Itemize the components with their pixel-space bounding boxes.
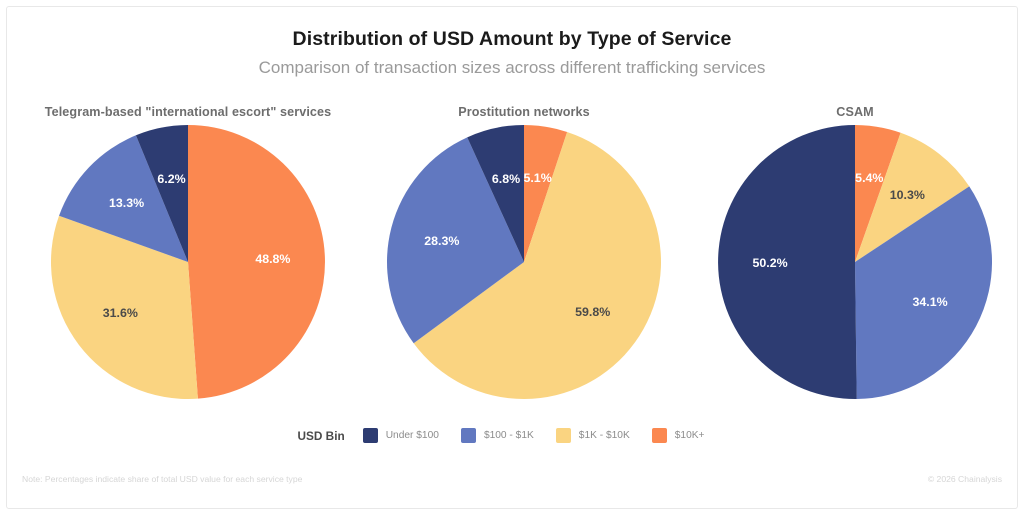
page-subtitle: Comparison of transaction sizes across d… [0,58,1024,78]
legend-swatch-icon [363,428,378,443]
pie-svg [387,125,661,399]
footer-credit: © 2026 Chainalysis [928,474,1002,484]
pie-svg [51,125,325,399]
legend-swatch-icon [652,428,667,443]
legend-title: USD Bin [297,429,344,443]
pie-slice[interactable] [718,125,857,399]
pie-panel-prostitution: Prostitution networks 5.1%59.8%28.3%6.8% [359,105,689,399]
legend-swatch-icon [556,428,571,443]
pie-panel-title: Telegram-based "international escort" se… [23,105,353,119]
legend-item-label: $100 - $1K [484,430,534,441]
legend: USD Bin Under $100$100 - $1K$1K - $10K$1… [0,428,1024,443]
legend-entries: Under $100$100 - $1K$1K - $10K$10K+ [363,428,727,443]
pie-panel-title: CSAM [690,105,1020,119]
pie-chart-prostitution: 5.1%59.8%28.3%6.8% [387,125,661,399]
pie-panel-csam: CSAM 5.4%10.3%34.1%50.2% [690,105,1020,399]
pie-svg [718,125,992,399]
pie-chart-telegram: 48.8%31.6%13.3%6.2% [51,125,325,399]
pie-chart-csam: 5.4%10.3%34.1%50.2% [718,125,992,399]
pie-slice[interactable] [188,125,325,399]
pie-slices [387,125,661,399]
pie-slices [51,125,325,399]
legend-item-label: $10K+ [675,430,705,441]
chart-figure: Distribution of USD Amount by Type of Se… [0,0,1024,515]
legend-item[interactable]: $1K - $10K [556,428,630,443]
legend-item[interactable]: $100 - $1K [461,428,534,443]
pie-slices [718,125,992,399]
page-title: Distribution of USD Amount by Type of Se… [0,28,1024,51]
legend-item-label: $1K - $10K [579,430,630,441]
pie-panel-telegram: Telegram-based "international escort" se… [23,105,353,399]
legend-item-label: Under $100 [386,430,439,441]
pie-panel-title: Prostitution networks [359,105,689,119]
legend-item[interactable]: $10K+ [652,428,705,443]
footer-note: Note: Percentages indicate share of tota… [22,474,302,484]
legend-item[interactable]: Under $100 [363,428,439,443]
legend-swatch-icon [461,428,476,443]
